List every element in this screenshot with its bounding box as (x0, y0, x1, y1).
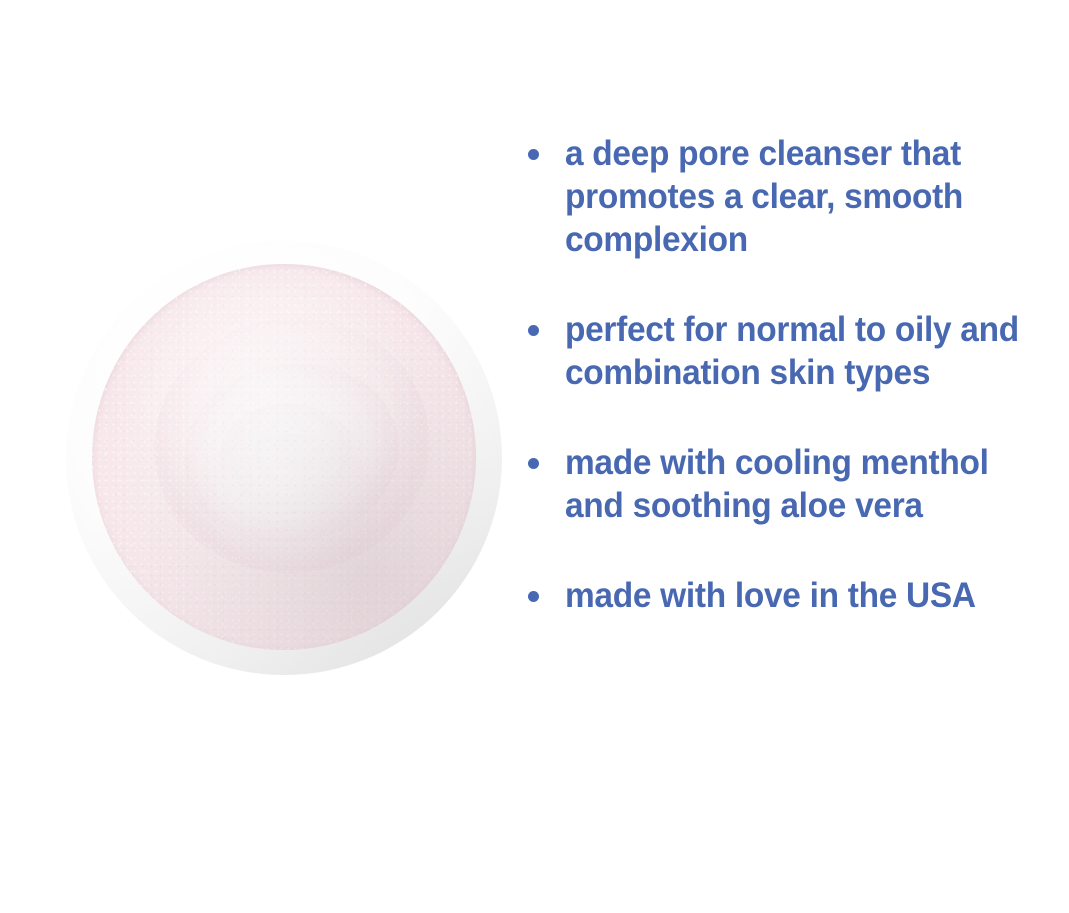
feature-text-menthol-aloe: made with cooling menthol and soothing a… (565, 441, 1046, 527)
powder-mound (207, 434, 376, 573)
powder-swirl-middle (170, 347, 412, 559)
pink-powder-surface (92, 264, 476, 650)
bullet-dot-icon (528, 149, 539, 160)
list-item: a deep pore cleanser that promotes a cle… (528, 132, 1069, 261)
feature-bullet-list: a deep pore cleanser that promotes a cle… (528, 132, 1069, 617)
product-feature-page: a deep pore cleanser that promotes a cle… (0, 0, 1069, 913)
powder-swirl-inner (219, 403, 357, 511)
feature-text-deep-pore-cleanser: a deep pore cleanser that promotes a cle… (565, 132, 1046, 261)
powder-shading (92, 264, 476, 650)
powder-swirl-outer (137, 300, 446, 591)
product-powder-jar-image (66, 241, 502, 675)
jar-rim (66, 241, 502, 675)
bullet-dot-icon (528, 325, 539, 336)
list-item: perfect for normal to oily and combinati… (528, 308, 1069, 394)
list-item: made with love in the USA (528, 574, 1069, 617)
feature-text-made-in-usa: made with love in the USA (565, 574, 1046, 617)
powder-grain-texture (92, 264, 476, 650)
bullet-dot-icon (528, 458, 539, 469)
bullet-dot-icon (528, 591, 539, 602)
feature-text-skin-types: perfect for normal to oily and combinati… (565, 308, 1046, 394)
list-item: made with cooling menthol and soothing a… (528, 441, 1069, 527)
